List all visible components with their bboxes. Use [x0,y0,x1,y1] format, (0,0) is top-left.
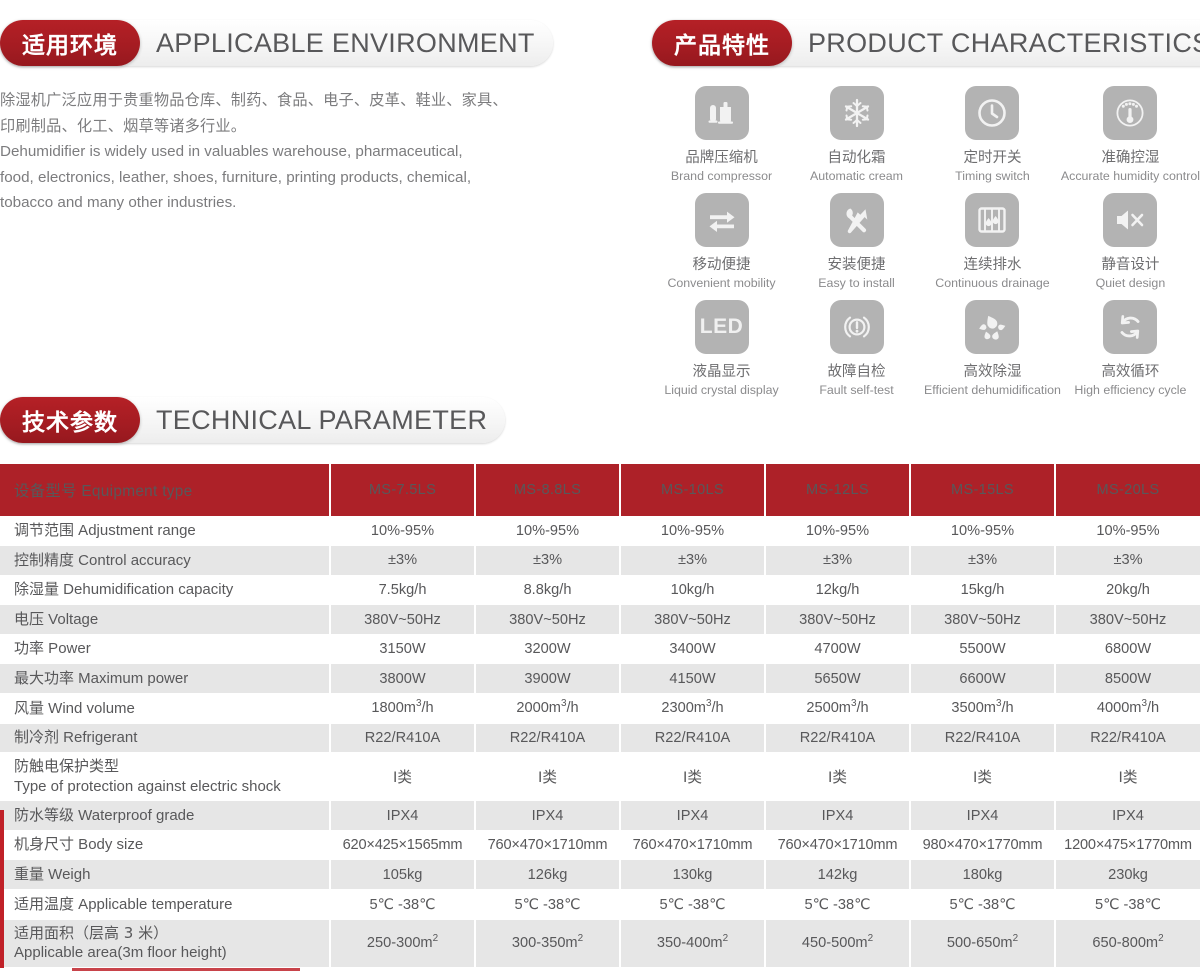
table-cell: 760×470×1710mm [475,830,620,860]
table-cell: 3400W [620,634,765,664]
table-cell: 5℃ -38℃ [910,890,1055,920]
table-cell: 3800W [330,664,475,694]
table-cell: 230kg [1055,860,1200,890]
table-cell: 380V~50Hz [910,605,1055,635]
table-body: 调节范围 Adjustment range10%-95%10%-95%10%-9… [0,516,1200,967]
feature-label-en: Timing switch [924,168,1061,185]
feature-item: 准确控湿 Accurate humidity control [1061,86,1200,193]
env-text-en-line1: Dehumidifier is widely used in valuables… [0,139,580,165]
table-cell: 3150W [330,634,475,664]
row-label: 风量 Wind volume [0,694,330,724]
table-cell: 1800m3/h [330,694,475,724]
table-cell: 380V~50Hz [620,605,765,635]
row-label: 最大功率 Maximum power [0,664,330,694]
table-cell: 450-500m2 [765,919,910,967]
section-title-english: APPLICABLE ENVIRONMENT [140,28,535,59]
feature-item: 安装便捷 Easy to install [789,193,924,300]
section-pill: 产品特性 PRODUCT CHARACTERISTICS [652,20,1200,66]
table-row: 防水等级 Waterproof gradeIPX4IPX4IPX4IPX4IPX… [0,801,1200,831]
left-red-accent-bar [0,810,4,968]
feature-label-cn: 定时开关 [924,149,1061,168]
table-cell: 130kg [620,860,765,890]
header-label-cn: 设备型号 [14,482,77,500]
feature-label-en: High efficiency cycle [1061,382,1200,399]
header-label-en: Equipment type [81,483,192,500]
led-glyph-text: LED [700,315,744,339]
feature-item: 移动便捷 Convenient mobility [654,193,789,300]
warning-self-test-icon [830,300,884,354]
env-text-cn-line2: 印刷制品、化工、烟草等诸多行业。 [0,114,580,140]
bottom-red-accent-line [72,968,300,971]
section-pill: 适用环境 APPLICABLE ENVIRONMENT [0,20,553,66]
table-cell: 4700W [765,634,910,664]
table-cell: 380V~50Hz [475,605,620,635]
env-text-cn-line1: 除湿机广泛应用于贵重物品仓库、制药、食品、电子、皮革、鞋业、家具、 [0,88,580,114]
compressor-icon [695,86,749,140]
table-cell: 350-400m2 [620,919,765,967]
feature-label-cn: 高效除湿 [924,363,1061,382]
table-cell: 12kg/h [765,575,910,605]
table-cell: 5℃ -38℃ [475,890,620,920]
table-row: 适用温度 Applicable temperature5℃ -38℃5℃ -38… [0,890,1200,920]
feature-label-cn: 高效循环 [1061,363,1200,382]
feature-item: 故障自检 Fault self-test [789,300,924,407]
table-cell: ±3% [475,546,620,576]
table-cell: R22/R410A [765,723,910,753]
table-cell: 380V~50Hz [330,605,475,635]
feature-label-en: Brand compressor [654,168,789,185]
drainage-icon [965,193,1019,247]
table-cell: ±3% [910,546,1055,576]
row-label: 适用温度 Applicable temperature [0,890,330,920]
table-cell: 4150W [620,664,765,694]
clock-icon [965,86,1019,140]
table-cell: 10%-95% [1055,516,1200,546]
table-cell: IPX4 [910,801,1055,831]
table-cell: R22/R410A [910,723,1055,753]
table-cell: Ⅰ类 [910,753,1055,801]
table-cell: 3200W [475,634,620,664]
table-cell: 1200×475×1770mm [1055,830,1200,860]
table-cell: 3500m3/h [910,694,1055,724]
feature-label-cn: 移动便捷 [654,256,789,275]
table-cell: 10%-95% [330,516,475,546]
section-title-english: TECHNICAL PARAMETER [140,405,487,436]
table-cell: 8500W [1055,664,1200,694]
table-cell: Ⅰ类 [765,753,910,801]
applicable-environment-body: 除湿机广泛应用于贵重物品仓库、制药、食品、电子、皮革、鞋业、家具、 印刷制品、化… [0,88,580,216]
row-label: 电压 Voltage [0,605,330,635]
table-cell: ±3% [765,546,910,576]
table-cell: ±3% [1055,546,1200,576]
feature-item: LED 液晶显示 Liquid crystal display [654,300,789,407]
technical-parameter-header: 技术参数 TECHNICAL PARAMETER [0,397,505,443]
table-cell: 5℃ -38℃ [330,890,475,920]
table-cell: IPX4 [330,801,475,831]
tools-icon [830,193,884,247]
table-cell: 760×470×1710mm [765,830,910,860]
table-cell: 10%-95% [765,516,910,546]
feature-label-cn: 连续排水 [924,256,1061,275]
row-label: 调节范围 Adjustment range [0,516,330,546]
table-cell: IPX4 [765,801,910,831]
table-cell: 980×470×1770mm [910,830,1055,860]
table-row: 电压 Voltage380V~50Hz380V~50Hz380V~50Hz380… [0,605,1200,635]
table-cell: 126kg [475,860,620,890]
table-cell: 5500W [910,634,1055,664]
column-header-model: MS-8.8LS [475,464,620,516]
table-row: 风量 Wind volume1800m3/h2000m3/h2300m3/h25… [0,694,1200,724]
table-cell: 380V~50Hz [765,605,910,635]
feature-label-en: Liquid crystal display [654,382,789,399]
table-cell: 6600W [910,664,1055,694]
column-header-model: MS-7.5LS [330,464,475,516]
table-cell: 300-350m2 [475,919,620,967]
feature-item: 高效除湿 Efficient dehumidification [924,300,1061,407]
feature-item: 连续排水 Continuous drainage [924,193,1061,300]
table-cell: 380V~50Hz [1055,605,1200,635]
feature-label-en: Easy to install [789,275,924,292]
row-label: 除湿量 Dehumidification capacity [0,575,330,605]
row-label: 制冷剂 Refrigerant [0,723,330,753]
feature-label-en: Continuous drainage [924,275,1061,292]
section-badge-chinese: 技术参数 [0,397,140,443]
feature-label-cn: 品牌压缩机 [654,149,789,168]
table-cell: R22/R410A [620,723,765,753]
table-cell: 10%-95% [475,516,620,546]
humidity-gauge-icon [1103,86,1157,140]
table-cell: 250-300m2 [330,919,475,967]
recycle-arrows-icon [1103,300,1157,354]
section-title-english: PRODUCT CHARACTERISTICS [792,28,1200,59]
table-cell: 3900W [475,664,620,694]
mute-speaker-icon [1103,193,1157,247]
feature-item: 高效循环 High efficiency cycle [1061,300,1200,407]
product-characteristics-header: 产品特性 PRODUCT CHARACTERISTICS [652,20,1200,66]
row-label: 功率 Power [0,634,330,664]
column-header-model: MS-10LS [620,464,765,516]
table-cell: 5℃ -38℃ [765,890,910,920]
table-row: 制冷剂 RefrigerantR22/R410AR22/R410AR22/R41… [0,723,1200,753]
feature-grid: 品牌压缩机 Brand compressor 自动化霜 Automatic cr… [654,86,1200,407]
led-display-icon: LED [695,300,749,354]
table-cell: 500-650m2 [910,919,1055,967]
table-cell: Ⅰ类 [620,753,765,801]
row-label: 控制精度 Control accuracy [0,546,330,576]
feature-label-en: Convenient mobility [654,275,789,292]
table-row: 重量 Weigh105kg126kg130kg142kg180kg230kg [0,860,1200,890]
feature-label-cn: 液晶显示 [654,363,789,382]
table-cell: 10%-95% [620,516,765,546]
table-cell: R22/R410A [330,723,475,753]
table-cell: IPX4 [475,801,620,831]
table-cell: Ⅰ类 [475,753,620,801]
table-cell: Ⅰ类 [330,753,475,801]
table-row: 控制精度 Control accuracy±3%±3%±3%±3%±3%±3% [0,546,1200,576]
feature-label-en: Fault self-test [789,382,924,399]
row-label: 机身尺寸 Body size [0,830,330,860]
column-header-model: MS-15LS [910,464,1055,516]
table-cell: ±3% [330,546,475,576]
table-cell: 2000m3/h [475,694,620,724]
table-row: 调节范围 Adjustment range10%-95%10%-95%10%-9… [0,516,1200,546]
snowflake-icon [830,86,884,140]
table-cell: 142kg [765,860,910,890]
table-cell: ±3% [620,546,765,576]
table-row: 除湿量 Dehumidification capacity7.5kg/h8.8k… [0,575,1200,605]
feature-label-en: Efficient dehumidification [924,382,1061,399]
table-row: 最大功率 Maximum power3800W3900W4150W5650W66… [0,664,1200,694]
feature-item: 静音设计 Quiet design [1061,193,1200,300]
table-cell: 650-800m2 [1055,919,1200,967]
table-cell: 180kg [910,860,1055,890]
table-cell: 20kg/h [1055,575,1200,605]
table-cell: 2300m3/h [620,694,765,724]
table-cell: R22/R410A [1055,723,1200,753]
table-cell: Ⅰ类 [1055,753,1200,801]
feature-label-cn: 静音设计 [1061,256,1200,275]
feature-item: 定时开关 Timing switch [924,86,1061,193]
table-cell: 5℃ -38℃ [620,890,765,920]
column-header-model: MS-20LS [1055,464,1200,516]
table-cell: 10kg/h [620,575,765,605]
move-arrows-icon [695,193,749,247]
row-label: 防触电保护类型Type of protection against electr… [0,753,330,801]
table-cell: 7.5kg/h [330,575,475,605]
table-header-row: 设备型号 Equipment type MS-7.5LS MS-8.8LS MS… [0,464,1200,516]
feature-label-cn: 准确控湿 [1061,149,1200,168]
feature-label-en: Automatic cream [789,168,924,185]
feature-label-cn: 故障自检 [789,363,924,382]
column-header-equipment-type: 设备型号 Equipment type [0,464,330,516]
feature-label-cn: 自动化霜 [789,149,924,168]
table-cell: 760×470×1710mm [620,830,765,860]
table-cell: 15kg/h [910,575,1055,605]
table-cell: 4000m3/h [1055,694,1200,724]
table-cell: R22/R410A [475,723,620,753]
water-drops-icon [965,300,1019,354]
section-pill: 技术参数 TECHNICAL PARAMETER [0,397,505,443]
table-cell: 620×425×1565mm [330,830,475,860]
table-cell: 5℃ -38℃ [1055,890,1200,920]
row-label: 重量 Weigh [0,860,330,890]
feature-item: 自动化霜 Automatic cream [789,86,924,193]
env-text-en-line3: tobacco and many other industries. [0,190,580,216]
row-label: 防水等级 Waterproof grade [0,801,330,831]
table-cell: 10%-95% [910,516,1055,546]
section-badge-chinese: 产品特性 [652,20,792,66]
feature-label-en: Quiet design [1061,275,1200,292]
table-cell: 105kg [330,860,475,890]
table-cell: 8.8kg/h [475,575,620,605]
feature-label-en: Accurate humidity control [1061,168,1200,185]
table-cell: IPX4 [620,801,765,831]
env-text-en-line2: food, electronics, leather, shoes, furni… [0,165,580,191]
table-cell: IPX4 [1055,801,1200,831]
table-cell: 5650W [765,664,910,694]
table-cell: 2500m3/h [765,694,910,724]
product-spec-sheet: 适用环境 APPLICABLE ENVIRONMENT 除湿机广泛应用于贵重物品… [0,0,1200,972]
applicable-environment-header: 适用环境 APPLICABLE ENVIRONMENT [0,20,553,66]
feature-item: 品牌压缩机 Brand compressor [654,86,789,193]
column-header-model: MS-12LS [765,464,910,516]
technical-parameter-table: 设备型号 Equipment type MS-7.5LS MS-8.8LS MS… [0,464,1200,968]
table-row: 功率 Power3150W3200W3400W4700W5500W6800W [0,634,1200,664]
table-row: 适用面积（层高 3 米）Applicable area(3m floor hei… [0,919,1200,967]
table-row: 防触电保护类型Type of protection against electr… [0,753,1200,801]
table-row: 机身尺寸 Body size620×425×1565mm760×470×1710… [0,830,1200,860]
section-badge-chinese: 适用环境 [0,20,140,66]
table-cell: 6800W [1055,634,1200,664]
row-label: 适用面积（层高 3 米）Applicable area(3m floor hei… [0,919,330,967]
feature-label-cn: 安装便捷 [789,256,924,275]
table-header: 设备型号 Equipment type MS-7.5LS MS-8.8LS MS… [0,464,1200,516]
